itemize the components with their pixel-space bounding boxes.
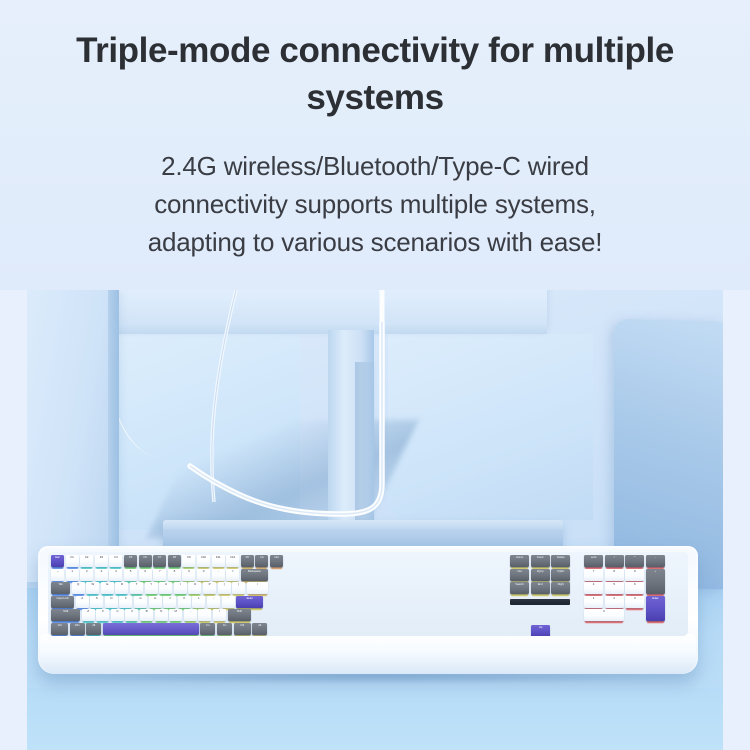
keycap-m[interactable]: M <box>169 609 182 621</box>
keycap-u[interactable]: U <box>159 582 172 594</box>
keycap-ctrl[interactable]: Ctrl <box>234 623 251 635</box>
keycap-f5[interactable]: F5 <box>124 555 137 567</box>
keycap-h[interactable]: H <box>149 596 162 608</box>
keycap-a[interactable]: A <box>76 596 89 608</box>
keycap-s[interactable]: S <box>90 596 103 608</box>
keycap-p[interactable]: P <box>203 582 216 594</box>
keycap-num-/[interactable]: / <box>605 555 624 567</box>
keycap-delete[interactable]: Delete <box>551 555 570 567</box>
keycap-num-*[interactable]: * <box>625 555 644 567</box>
keycap-f11[interactable]: F11 <box>212 555 225 567</box>
keycap-f12[interactable]: F12 <box>226 555 239 567</box>
page-subcopy: 2.4G wireless/Bluetooth/Type-C wired con… <box>65 148 685 262</box>
keycap--[interactable]: - <box>212 569 225 581</box>
keycap-num-3[interactable]: 3 <box>625 596 644 608</box>
keycap-z[interactable]: Z <box>82 609 95 621</box>
keycap-q[interactable]: Q <box>72 582 85 594</box>
keycap-caps-lock[interactable]: Caps Lock <box>51 596 74 608</box>
keycap-insert[interactable]: Insert <box>531 555 550 567</box>
photo-margin-right <box>723 270 750 750</box>
keycap-f3[interactable]: F3 <box>95 555 108 567</box>
keycap-search[interactable]: Search <box>510 582 529 594</box>
keycap-7[interactable]: 7 <box>153 569 166 581</box>
keycap--[interactable]: ; <box>207 596 220 608</box>
headline-line-1: Triple-mode connectivity for <box>76 31 534 70</box>
keycap-8[interactable]: 8 <box>168 569 181 581</box>
keycap--[interactable]: , <box>184 609 197 621</box>
keycap-num-6[interactable]: 6 <box>625 582 644 594</box>
keycap-num-enter[interactable]: Enter <box>646 596 665 622</box>
keycap-f7[interactable]: F7 <box>153 555 166 567</box>
keycap-num-2[interactable]: 2 <box>605 596 624 608</box>
product-photo: EscF1F2F3F4F5F6F7F8F9F10F11F12PrtInsDel~… <box>0 270 750 750</box>
keycap-del[interactable]: Del <box>510 569 529 581</box>
keycap-esc[interactable]: Esc <box>51 555 64 567</box>
keycap-num-0[interactable]: 0 <box>584 609 624 621</box>
keycap-l[interactable]: L <box>192 596 205 608</box>
keycap--[interactable]: \ <box>247 582 268 594</box>
keycap-end[interactable]: End <box>531 582 550 594</box>
keycap-i[interactable]: I <box>174 582 187 594</box>
keyboard-deck: EscF1F2F3F4F5F6F7F8F9F10F11F12PrtInsDel~… <box>48 552 688 636</box>
keycap--[interactable]: = <box>226 569 239 581</box>
keycap-num-7[interactable]: 7 <box>584 569 603 581</box>
keycap-f10[interactable]: F10 <box>197 555 210 567</box>
keycap-f8[interactable]: F8 <box>168 555 181 567</box>
keycap-0[interactable]: 0 <box>197 569 210 581</box>
keycap-pgdn[interactable]: PgDn <box>551 569 570 581</box>
keycap-b[interactable]: B <box>140 609 153 621</box>
keycap-e[interactable]: E <box>101 582 114 594</box>
keycap-w[interactable]: W <box>86 582 99 594</box>
keycap-alt[interactable]: Alt <box>86 623 101 635</box>
keycap-v[interactable]: V <box>125 609 138 621</box>
keycap-num-lock[interactable]: Lock <box>584 555 603 567</box>
keycap-r[interactable]: R <box>115 582 128 594</box>
keycap-backspace[interactable]: Backspace <box>241 569 268 581</box>
keycap-k[interactable]: K <box>178 596 191 608</box>
keycap-num-8[interactable]: 8 <box>605 569 624 581</box>
keycap--[interactable]: ' <box>222 596 235 608</box>
page-headline: Triple-mode connectivity for multiple sy… <box>75 28 675 121</box>
keycap-num-1[interactable]: 1 <box>584 596 603 608</box>
keyboard-front-lip <box>40 634 696 674</box>
keycap-alt[interactable]: Alt <box>252 623 267 635</box>
keycap-f1[interactable]: F1 <box>66 555 79 567</box>
keycap-2[interactable]: 2 <box>80 569 93 581</box>
keycap-5[interactable]: 5 <box>124 569 137 581</box>
keycap-space[interactable] <box>103 623 199 635</box>
keycap-pgup[interactable]: PgUp <box>531 569 550 581</box>
keycap-tab[interactable]: Tab <box>51 582 70 594</box>
keycap-d[interactable]: D <box>105 596 118 608</box>
keycap-num-4[interactable]: 4 <box>584 582 603 594</box>
keycap-f9[interactable]: F9 <box>182 555 195 567</box>
subcopy-line-3: adapting to various scenarios with ease! <box>65 224 685 262</box>
keycap-shift[interactable]: Shift <box>51 609 80 621</box>
keycap-o[interactable]: O <box>188 582 201 594</box>
keycap-f6[interactable]: F6 <box>139 555 152 567</box>
keycap-num-5[interactable]: 5 <box>605 582 624 594</box>
keycap-c[interactable]: C <box>111 609 124 621</box>
mechanical-keyboard[interactable]: EscF1F2F3F4F5F6F7F8F9F10F11F12PrtInsDel~… <box>38 546 698 674</box>
keycap-y[interactable]: Y <box>145 582 158 594</box>
copy-block: Triple-mode connectivity for multiple sy… <box>0 0 750 290</box>
keycap-f4[interactable]: F4 <box>109 555 122 567</box>
keycap-3[interactable]: 3 <box>95 569 108 581</box>
keycap-ins[interactable]: Ins <box>255 555 268 567</box>
keycap-prt[interactable]: Prt <box>241 555 254 567</box>
keycap-1[interactable]: 1 <box>66 569 79 581</box>
keycap-fn[interactable]: Fn <box>200 623 215 635</box>
keycap--[interactable]: / <box>213 609 226 621</box>
keycap-t[interactable]: T <box>130 582 143 594</box>
keycap-shift[interactable]: Shift <box>228 609 251 621</box>
keycap-win[interactable]: Win <box>70 623 85 635</box>
keycap-num--[interactable]: - <box>646 555 665 567</box>
keycap-j[interactable]: J <box>163 596 176 608</box>
keycap-4[interactable]: 4 <box>109 569 122 581</box>
keycap-num-+[interactable]: + <box>646 569 665 595</box>
keycap-fn[interactable]: Fn <box>217 623 232 635</box>
subcopy-line-1: 2.4G wireless/Bluetooth/Type-C wired <box>65 148 685 186</box>
keycap-x[interactable]: X <box>96 609 109 621</box>
keycap-ctrl[interactable]: Ctrl <box>51 623 68 635</box>
brand-badge <box>510 599 570 605</box>
keycap-del[interactable]: Del <box>270 555 283 567</box>
keycap-enter[interactable]: Enter <box>236 596 263 608</box>
keycap--[interactable]: [ <box>218 582 231 594</box>
keycap-home[interactable]: Home <box>510 555 529 567</box>
keycap-g[interactable]: G <box>134 596 147 608</box>
keycap-num-9[interactable]: 9 <box>625 569 644 581</box>
promo-banner: Triple-mode connectivity for multiple sy… <box>0 0 750 750</box>
keycap--[interactable]: ~ <box>51 569 64 581</box>
keycap-f[interactable]: F <box>119 596 132 608</box>
keycap-right[interactable]: Right <box>551 582 570 594</box>
keycap-9[interactable]: 9 <box>182 569 195 581</box>
keycap-6[interactable]: 6 <box>139 569 152 581</box>
subcopy-line-2: connectivity supports multiple systems, <box>65 186 685 224</box>
photo-margin-left <box>0 270 27 750</box>
keycap--[interactable]: . <box>198 609 211 621</box>
keycap-f2[interactable]: F2 <box>80 555 93 567</box>
keycap-n[interactable]: N <box>155 609 168 621</box>
keycap-arrow-up[interactable]: Up <box>531 625 550 636</box>
keycap--[interactable]: ] <box>232 582 245 594</box>
